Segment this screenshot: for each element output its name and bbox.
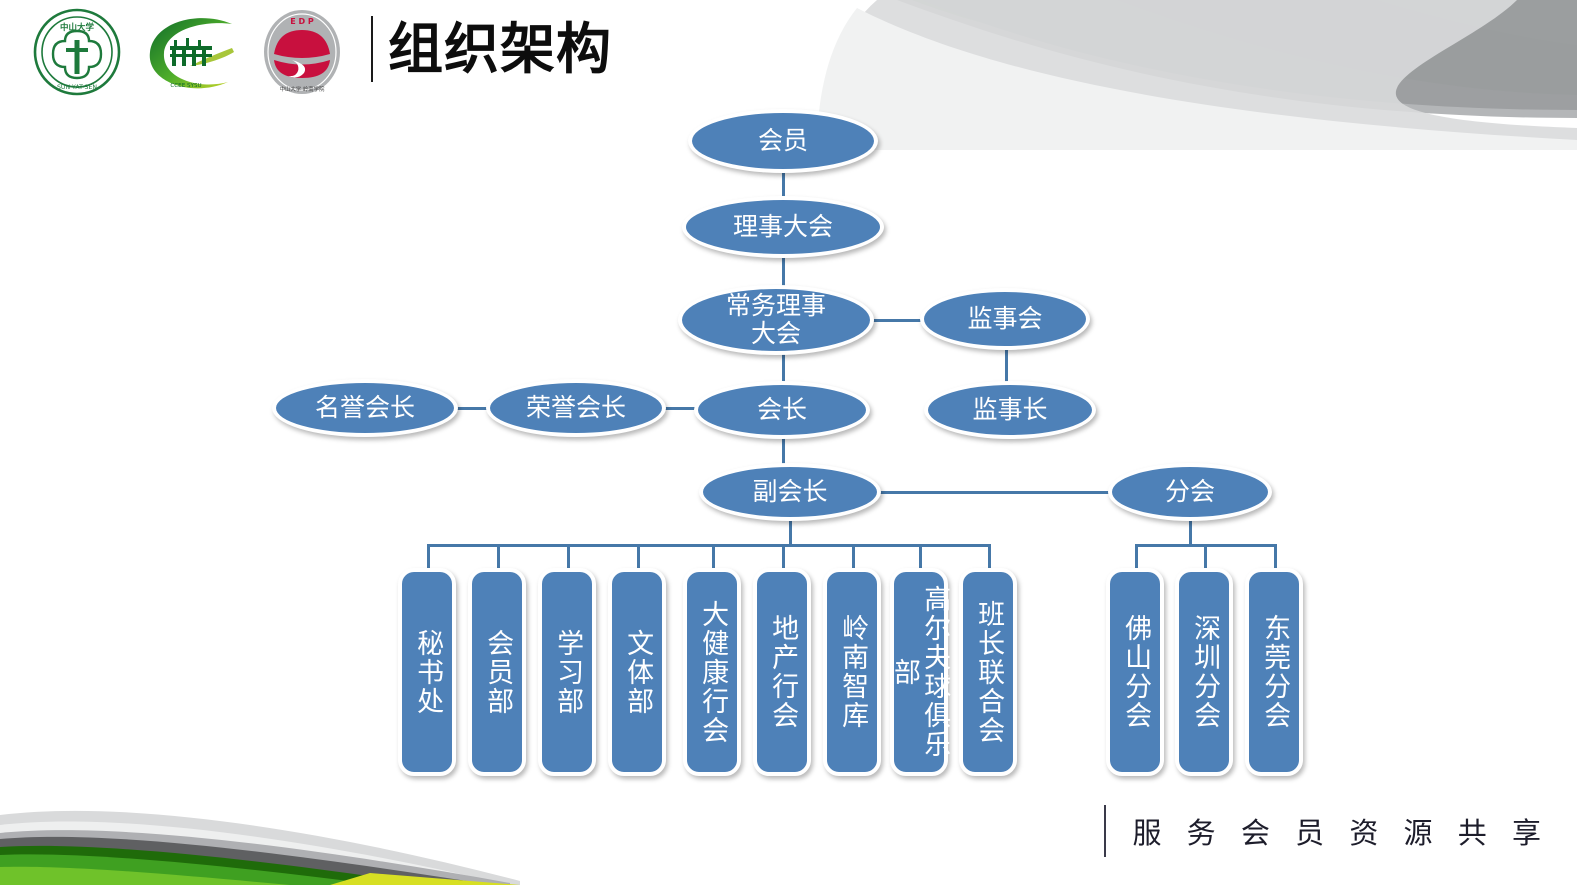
node-standing-council-label-line2: 大会 (751, 320, 801, 348)
node-dept-realestate-guild[interactable]: 地产行会 (753, 568, 811, 776)
node-dept-golf-club[interactable]: 高尔夫球俱乐部 (890, 568, 948, 776)
node-dept-realestate-guild-label: 地产行会 (767, 614, 797, 730)
svg-text:CCEE SYSU: CCEE SYSU (170, 83, 201, 89)
connector-departments-bus (427, 544, 991, 547)
node-dept-secretariat-label: 秘书处 (412, 629, 442, 716)
node-supervisory-board-label: 监事会 (967, 305, 1042, 333)
connector-vice-stem (789, 518, 792, 546)
connector-drop-dept-2 (497, 544, 500, 570)
node-president-label: 会长 (757, 396, 807, 424)
node-branch-label: 分会 (1165, 478, 1215, 506)
connector-council-to-standing (782, 257, 785, 287)
decorative-swoosh-top-right (817, 0, 1577, 150)
node-dept-study[interactable]: 学习部 (538, 568, 596, 776)
connector-drop-dept-5 (712, 544, 715, 570)
node-vice-president-label: 副会长 (752, 478, 827, 506)
node-dept-health-guild[interactable]: 大健康行会 (683, 568, 741, 776)
node-vice-president[interactable]: 副会长 (699, 463, 881, 521)
connector-drop-dept-4 (637, 544, 640, 570)
slide-canvas: 中山大学 SUN YAT-SEN (0, 0, 1577, 885)
node-dept-secretariat[interactable]: 秘书处 (398, 568, 456, 776)
connector-drop-dept-9 (988, 544, 991, 570)
connector-drop-dept-1 (427, 544, 430, 570)
node-dept-monitor-union[interactable]: 班长联合会 (959, 568, 1017, 776)
node-dept-golf-club-label: 高尔夫球俱乐部 (889, 582, 949, 762)
node-dept-lingnan-thinktank-label: 岭南智库 (837, 614, 867, 730)
footer-slogan: 服 务 会 员 资 源 共 享 (1132, 810, 1549, 852)
node-dept-monitor-union-label: 班长联合会 (973, 600, 1003, 745)
node-dept-study-label: 学习部 (552, 629, 582, 716)
connector-drop-dept-8 (919, 544, 922, 570)
node-dept-culture-sports[interactable]: 文体部 (608, 568, 666, 776)
connector-drop-dept-7 (852, 544, 855, 570)
node-honorary-president[interactable]: 名誉会长 (272, 379, 458, 437)
connector-branch-bus (1135, 544, 1277, 547)
node-standing-council-label-line1: 常务理事 (726, 292, 826, 320)
node-honorary-president-label: 名誉会长 (315, 394, 415, 422)
node-members-label: 会员 (758, 127, 808, 155)
title-divider (371, 16, 373, 82)
node-dept-culture-sports-label: 文体部 (622, 629, 652, 716)
node-council[interactable]: 理事大会 (682, 196, 884, 258)
connector-drop-dept-3 (567, 544, 570, 570)
connector-drop-branch-1 (1135, 544, 1138, 570)
node-glory-president-label: 荣誉会长 (526, 394, 626, 422)
node-branch[interactable]: 分会 (1108, 463, 1272, 521)
slide-footer: 服 务 会 员 资 源 共 享 (1104, 805, 1549, 857)
footer-divider (1104, 805, 1106, 857)
node-members[interactable]: 会员 (688, 109, 878, 173)
node-standing-council[interactable]: 常务理事 大会 (678, 285, 874, 355)
connector-supervisory-to-chief (1005, 350, 1008, 382)
connector-glory-to-honorary (456, 407, 488, 410)
connector-standing-to-president (782, 353, 785, 383)
svg-text:SUN YAT-SEN: SUN YAT-SEN (57, 84, 97, 91)
connector-drop-dept-6 (782, 544, 785, 570)
node-glory-president[interactable]: 荣誉会长 (486, 379, 666, 437)
node-branch-shenzhen[interactable]: 深圳分会 (1175, 568, 1233, 776)
connector-drop-branch-3 (1274, 544, 1277, 570)
edp-alumni-association-logo: E D P 中山大学·岭南学院 (252, 8, 352, 96)
node-dept-lingnan-thinktank[interactable]: 岭南智库 (823, 568, 881, 776)
sun-yat-sen-university-logo: 中山大学 SUN YAT-SEN (22, 8, 132, 96)
svg-text:E D P: E D P (290, 17, 314, 26)
ccee-education-center-logo: CCEE SYSU (136, 8, 246, 96)
node-dept-membership[interactable]: 会员部 (468, 568, 526, 776)
node-supervisory-board[interactable]: 监事会 (920, 288, 1090, 350)
connector-president-to-glory (662, 407, 696, 410)
node-president[interactable]: 会长 (694, 381, 870, 439)
node-council-label: 理事大会 (733, 213, 833, 241)
node-dept-health-guild-label: 大健康行会 (697, 600, 727, 745)
connector-drop-branch-2 (1204, 544, 1207, 570)
node-branch-foshan[interactable]: 佛山分会 (1106, 568, 1164, 776)
svg-text:中山大学: 中山大学 (60, 22, 95, 33)
node-branch-dongguan-label: 东莞分会 (1259, 614, 1289, 730)
node-branch-shenzhen-label: 深圳分会 (1189, 614, 1219, 730)
svg-text:中山大学·岭南学院: 中山大学·岭南学院 (280, 85, 325, 93)
node-chief-supervisor[interactable]: 监事长 (924, 381, 1096, 439)
node-branch-dongguan[interactable]: 东莞分会 (1245, 568, 1303, 776)
slide-header: 中山大学 SUN YAT-SEN (0, 0, 760, 100)
node-dept-membership-label: 会员部 (482, 629, 512, 716)
connector-branch-stem (1189, 518, 1192, 546)
connector-vice-to-branch (880, 491, 1110, 494)
node-branch-foshan-label: 佛山分会 (1120, 614, 1150, 730)
page-title: 组织架构 (388, 17, 612, 81)
node-chief-supervisor-label: 监事长 (972, 396, 1047, 424)
